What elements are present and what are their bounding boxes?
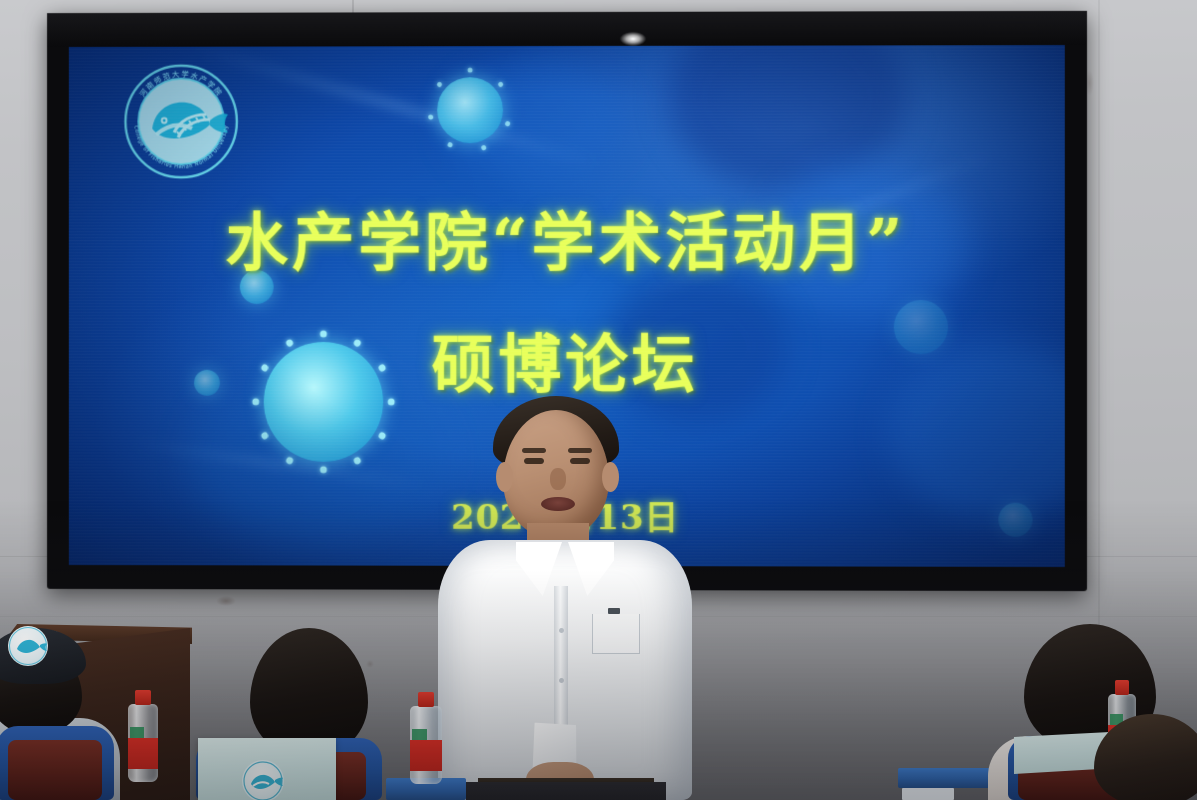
presenter-brow-right [568, 448, 592, 453]
bottle-cap [418, 692, 435, 707]
attendee-far-right-head [1094, 714, 1197, 800]
virus-particle-top [437, 77, 503, 143]
presenter-trousers [466, 782, 666, 800]
bottle-label [128, 738, 158, 769]
conference-photo-scene: 河南师范大学水产学院 College of Fisheries Henan No… [0, 0, 1197, 800]
cap-logo-icon [8, 626, 48, 666]
presenter-brow-left [522, 448, 546, 453]
slide-title-line-1: 水产学院“学术活动月” [69, 192, 1065, 283]
desk-right-panel [902, 788, 954, 800]
presenter-ear-right [602, 462, 619, 492]
attendee-left-head [250, 628, 368, 756]
water-bottle-left [128, 690, 158, 782]
bottle-cap [1115, 680, 1130, 695]
bottle-label [410, 740, 442, 771]
presenter-eye-right [570, 458, 590, 464]
presenter-mouth [541, 497, 575, 511]
presenter-pocket-pen [608, 608, 620, 614]
presenter-eye-left [524, 458, 544, 464]
presenter-shirt-button [559, 628, 564, 633]
attendee-far-right [1094, 714, 1197, 800]
presenter-shirt-button [559, 678, 564, 683]
desk-right [898, 768, 1000, 788]
presenter-nose [550, 468, 566, 490]
chair-seat-far-left [8, 740, 102, 800]
presenter-ear-left [496, 462, 513, 492]
presenter [430, 390, 700, 800]
bezel-glint [620, 32, 646, 46]
tote-bag-left: 河南师范大学水产学院 [198, 738, 336, 800]
water-bottle-center [410, 692, 442, 784]
virus-core [437, 77, 503, 143]
college-of-fisheries-logo: 河南师范大学水产学院 College of Fisheries Henan No… [122, 63, 239, 181]
presenter-shirt-pocket [592, 614, 640, 654]
bottle-cap [135, 690, 151, 705]
tote-logo-icon [242, 760, 284, 800]
